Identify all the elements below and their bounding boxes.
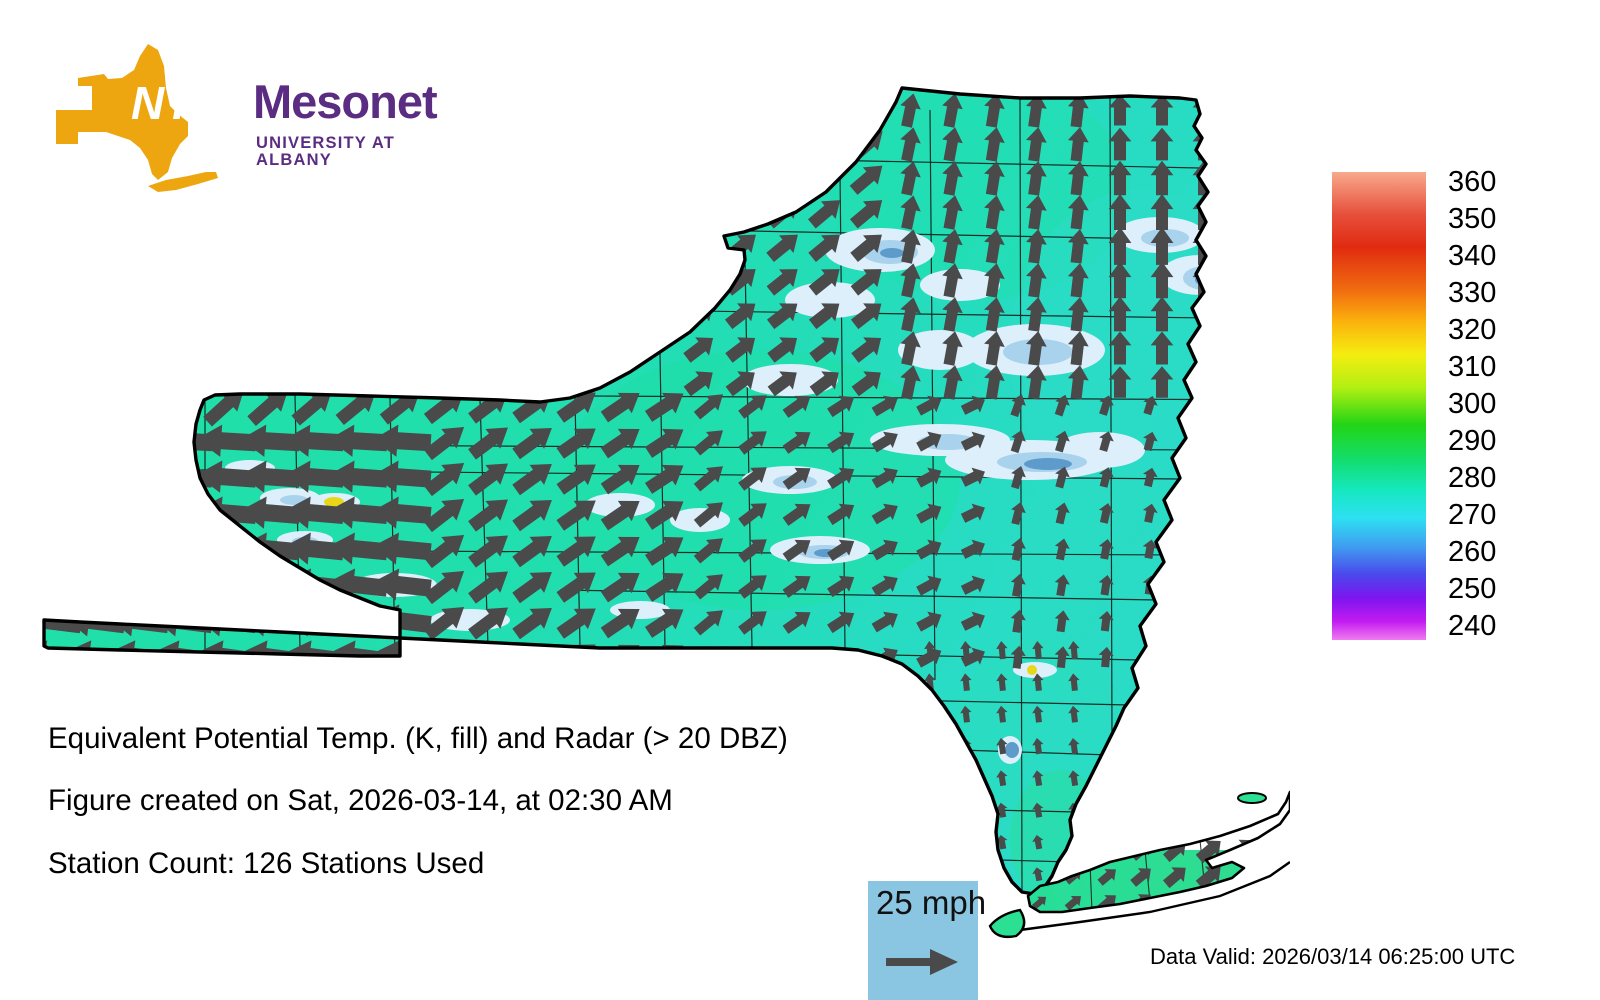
wind-arrow xyxy=(923,802,937,819)
wind-arrow xyxy=(62,459,126,496)
wind-arrow xyxy=(194,566,257,605)
wind-arrow xyxy=(150,530,213,568)
wind-arrow xyxy=(18,423,82,459)
wind-arrow xyxy=(1258,883,1290,921)
wind-scale-label: 25 mph xyxy=(876,886,986,919)
wind-arrow xyxy=(1235,331,1258,364)
wind-arrow xyxy=(959,834,973,850)
staten-island-shape xyxy=(990,910,1024,937)
wind-arrow xyxy=(106,530,170,568)
wind-arrow xyxy=(1235,262,1258,299)
wind-arrow xyxy=(1185,575,1202,594)
wind-arrow xyxy=(18,494,83,531)
wind-arrow xyxy=(1229,468,1247,487)
wind-arrow xyxy=(1235,297,1258,332)
wind-arrow xyxy=(923,705,936,723)
wind-arrow xyxy=(1235,194,1258,230)
wind-arrow xyxy=(1229,540,1246,558)
block-island-shape xyxy=(1238,793,1266,803)
wind-arrow xyxy=(107,423,170,459)
wind-arrow xyxy=(995,898,1009,913)
wind-arrow xyxy=(1185,539,1203,559)
wind-arrow xyxy=(151,494,214,531)
wind-arrow xyxy=(62,566,127,605)
wind-arrow xyxy=(1235,95,1258,126)
colorbar-tick-270: 270 xyxy=(1448,501,1496,530)
wind-arrow xyxy=(23,377,78,432)
wind-arrow xyxy=(150,566,214,605)
wind-arrow xyxy=(106,459,169,496)
wind-arrow xyxy=(1186,612,1203,631)
wind-arrow xyxy=(1186,648,1202,666)
wind-arrow xyxy=(1230,649,1246,666)
wind-arrow xyxy=(18,530,83,568)
colorbar-gradient xyxy=(1332,172,1426,640)
wind-arrow xyxy=(1235,366,1258,397)
data-valid-footer: Data Valid: 2026/03/14 06:25:00 UTC xyxy=(1150,944,1515,970)
wind-arrow xyxy=(959,769,973,786)
colorbar-tick-280: 280 xyxy=(1448,464,1496,493)
colorbar-tick-330: 330 xyxy=(1448,279,1496,308)
wind-arrow xyxy=(720,88,765,132)
figure-title: Equivalent Potential Temp. (K, fill) and… xyxy=(48,724,788,754)
wind-arrow xyxy=(239,566,302,605)
wind-arrow xyxy=(923,737,936,754)
wind-arrow xyxy=(804,123,848,166)
station-count: Station Count: 126 Stations Used xyxy=(48,849,484,879)
wind-arrow xyxy=(18,459,82,496)
wind-arrow xyxy=(111,378,165,431)
wind-arrow xyxy=(1185,503,1203,523)
wind-arrow xyxy=(1229,431,1248,450)
wind-arrow xyxy=(923,769,937,786)
wind-arrow xyxy=(678,123,722,166)
wind-arrow xyxy=(762,123,806,166)
wind-arrow xyxy=(1258,857,1290,895)
wind-arrow xyxy=(804,88,849,132)
wind-arrow xyxy=(1230,612,1246,629)
wind-arrow xyxy=(923,834,937,850)
wind-arrow xyxy=(923,866,937,882)
wind-arrow xyxy=(959,802,973,819)
colorbar-tick-360: 360 xyxy=(1448,168,1496,197)
wind-arrow xyxy=(679,226,721,266)
colorbar-tick-350: 350 xyxy=(1448,205,1496,234)
wind-arrow xyxy=(1095,837,1121,862)
wind-arrow xyxy=(1230,576,1247,594)
wind-arrow xyxy=(106,494,169,531)
wind-arrow xyxy=(762,88,807,132)
colorbar-tick-labels: 360350340330320310300290280270260250240 xyxy=(1448,172,1568,640)
wind-arrow xyxy=(720,157,764,199)
wind-arrow xyxy=(1185,467,1204,487)
wind-arrow xyxy=(679,191,722,232)
wind-arrow xyxy=(720,123,764,166)
wind-scale-arrow-icon xyxy=(886,947,960,977)
wind-arrow xyxy=(1235,227,1258,265)
wind-arrow xyxy=(762,157,806,199)
wind-arrow xyxy=(67,378,121,432)
colorbar-tick-300: 300 xyxy=(1448,390,1496,419)
wind-arrow xyxy=(195,530,258,568)
figure-created-time: Figure created on Sat, 2026-03-14, at 02… xyxy=(48,786,673,816)
wind-arrow xyxy=(679,260,720,300)
wind-arrow xyxy=(1225,884,1263,921)
colorbar-tick-310: 310 xyxy=(1448,353,1496,382)
colorbar xyxy=(1332,172,1426,640)
colorbar-tick-320: 320 xyxy=(1448,316,1496,345)
wind-arrow xyxy=(106,566,170,605)
wind-arrow xyxy=(959,866,973,882)
wind-arrow xyxy=(62,530,126,568)
colorbar-tick-250: 250 xyxy=(1448,575,1496,604)
wind-arrow xyxy=(1235,128,1258,161)
wind-arrow xyxy=(17,566,82,605)
wind-arrow xyxy=(1193,366,1216,397)
wind-arrow xyxy=(1258,831,1290,869)
colorbar-tick-290: 290 xyxy=(1448,427,1496,456)
wind-scale-legend: 25 mph xyxy=(868,881,978,1000)
wind-arrow xyxy=(1229,504,1247,523)
colorbar-tick-240: 240 xyxy=(1448,612,1496,641)
wind-arrow xyxy=(1235,161,1258,195)
wind-arrow xyxy=(62,494,126,531)
wind-arrow xyxy=(678,157,722,199)
wind-arrow xyxy=(1184,431,1203,452)
wind-arrow xyxy=(678,88,723,132)
colorbar-tick-260: 260 xyxy=(1448,538,1496,567)
colorbar-tick-340: 340 xyxy=(1448,242,1496,271)
wind-arrow xyxy=(62,423,125,459)
wind-arrow xyxy=(1229,395,1248,415)
